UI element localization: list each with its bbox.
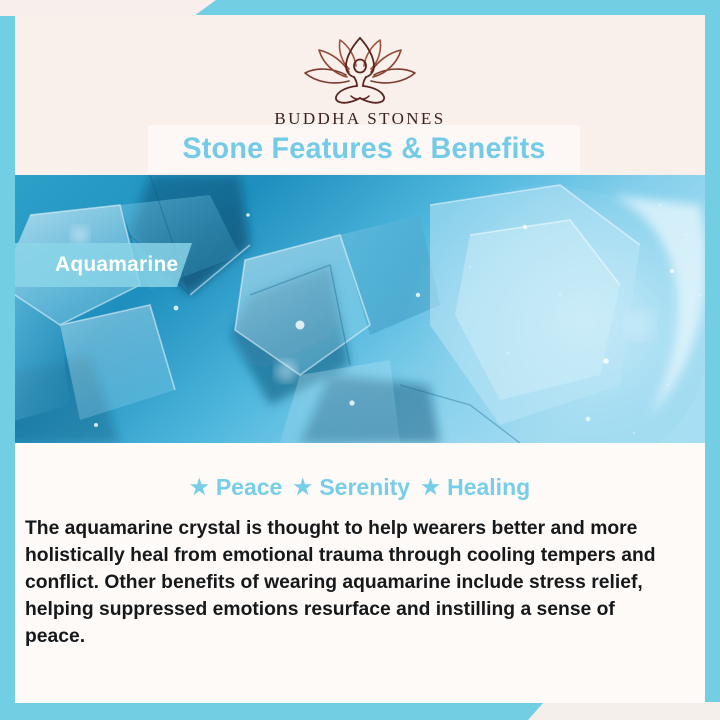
body-panel: ★ Peace ★ Serenity ★ Healing The aquamar… <box>15 443 705 703</box>
star-icon: ★ <box>190 477 209 496</box>
star-icon: ★ <box>421 477 440 496</box>
bottom-right-corner-accent <box>528 702 720 720</box>
content-card: BUDDHA STONES Stone Features & Benefits <box>15 15 705 703</box>
star-icon: ★ <box>293 477 312 496</box>
stone-name-label: Aquamarine <box>55 243 178 287</box>
keyword-label: Serenity <box>319 474 410 501</box>
header: BUDDHA STONES Stone Features & Benefits <box>15 15 705 175</box>
description-paragraph: The aquamarine crystal is thought to hel… <box>25 515 675 650</box>
lotus-meditation-icon <box>286 33 434 107</box>
keyword-row: ★ Peace ★ Serenity ★ Healing <box>15 474 705 501</box>
top-left-corner-accent <box>0 0 216 16</box>
keyword-healing: ★ Healing <box>421 474 530 501</box>
keyword-serenity: ★ Serenity <box>293 474 410 501</box>
brand-logo: BUDDHA STONES <box>15 33 705 129</box>
aquamarine-crystal-photo <box>15 175 705 443</box>
keyword-label: Healing <box>447 474 530 501</box>
infographic-page: BUDDHA STONES Stone Features & Benefits <box>0 0 720 720</box>
keyword-label: Peace <box>216 474 283 501</box>
crystal-photo-graphic <box>15 175 705 443</box>
page-title: Stone Features & Benefits <box>157 125 572 173</box>
keyword-peace: ★ Peace <box>190 474 283 501</box>
